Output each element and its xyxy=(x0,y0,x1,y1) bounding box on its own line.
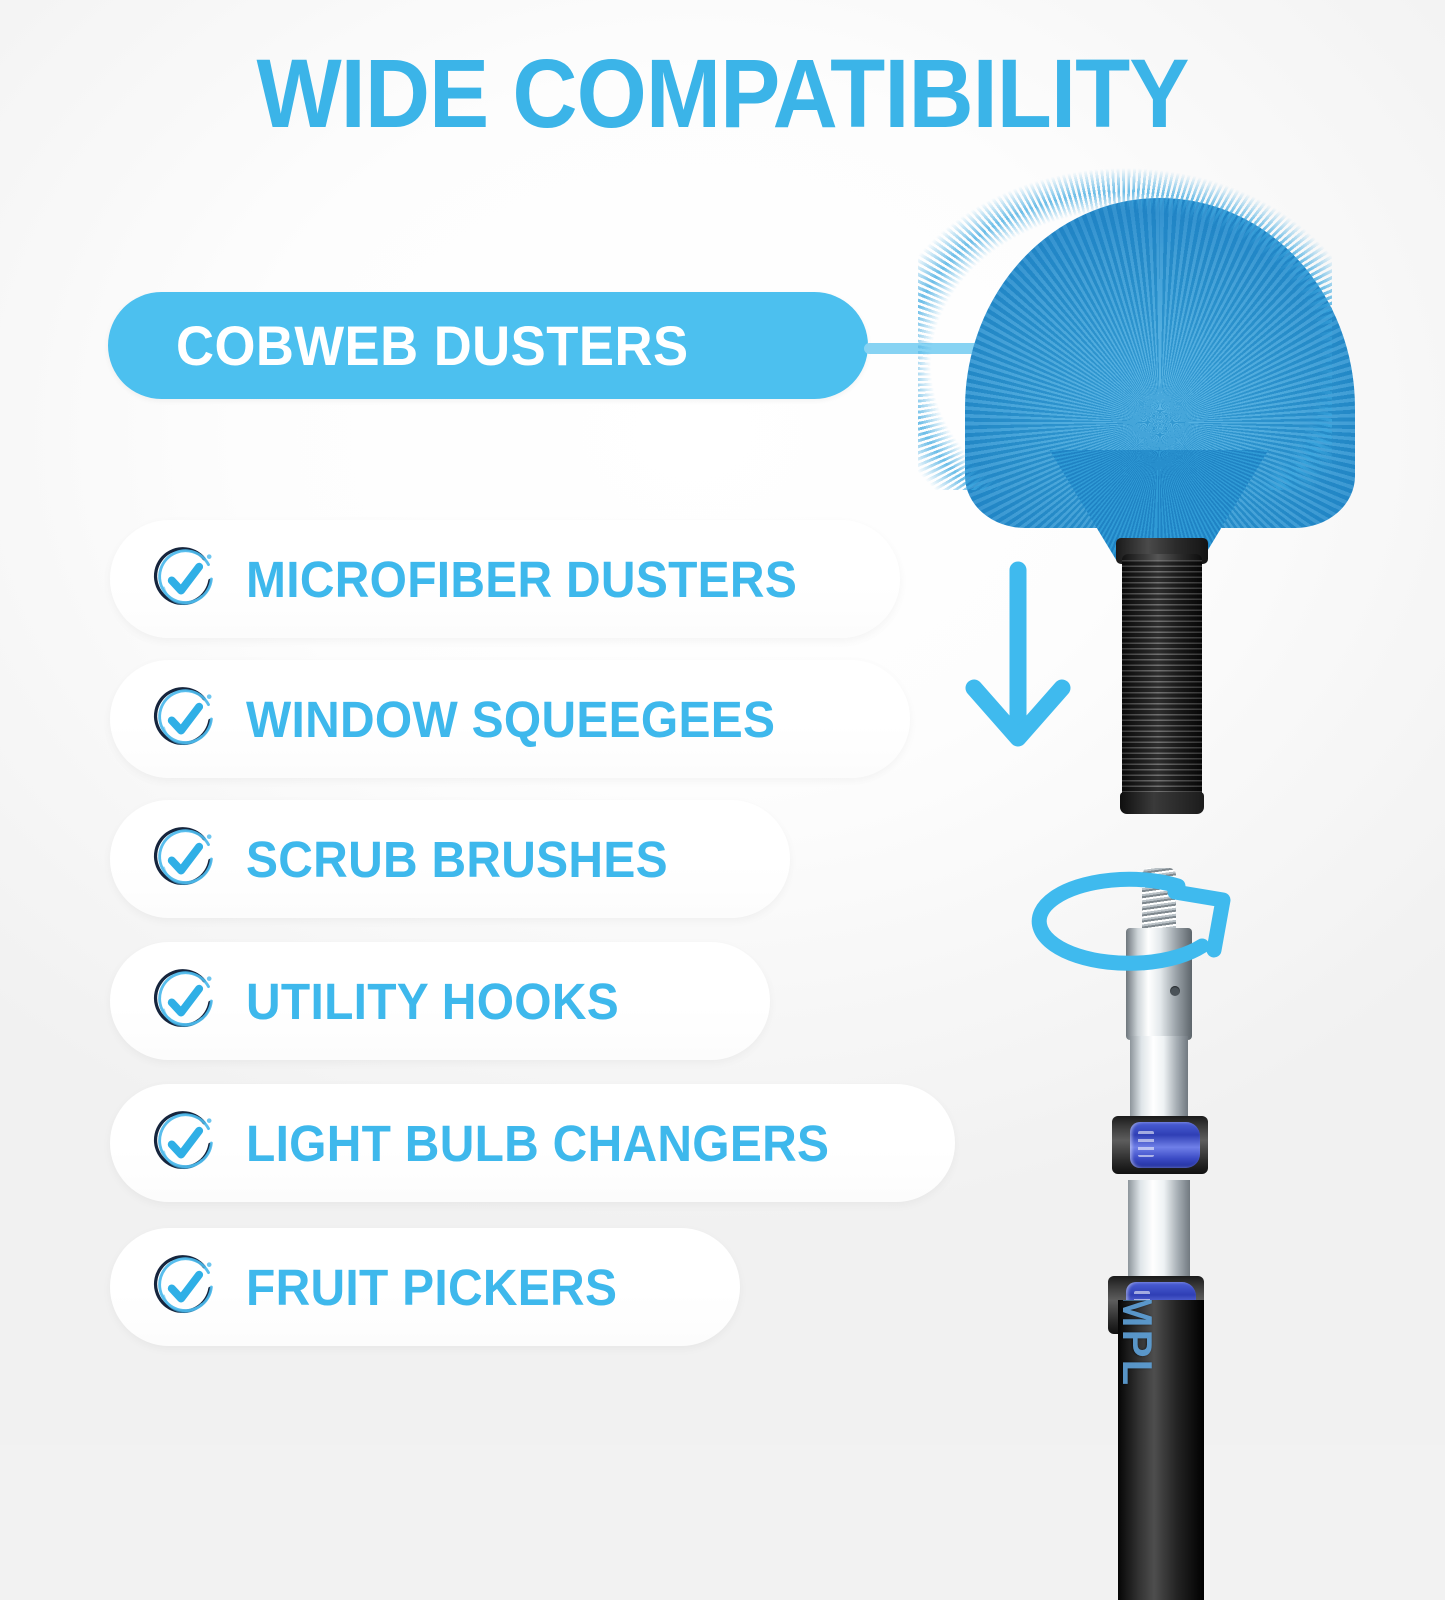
telescoping-pole-section-mid xyxy=(1128,1180,1190,1290)
check-swoosh-icon xyxy=(148,965,220,1037)
check-swoosh-icon xyxy=(148,683,220,755)
check-swoosh-icon xyxy=(148,543,220,615)
telescoping-pole-section-lower: SIMPL xyxy=(1118,1300,1204,1600)
feature-item-label: FRUIT PICKERS xyxy=(246,1258,617,1317)
feature-item-microfiber-dusters[interactable]: MICROFIBER DUSTERS xyxy=(110,520,900,638)
check-swoosh-icon xyxy=(148,1107,220,1179)
infographic-canvas: WIDE COMPATIBILITY COBWEB DUSTERS MICROF… xyxy=(0,0,1445,1445)
check-swoosh-icon xyxy=(148,1251,220,1323)
down-arrow-icon xyxy=(958,558,1078,768)
feature-item-label: MICROFIBER DUSTERS xyxy=(246,550,797,609)
grip-end-cap xyxy=(1120,792,1204,814)
feature-item-window-squeegees[interactable]: WINDOW SQUEEGEES xyxy=(110,660,910,778)
page-title: WIDE COMPATIBILITY xyxy=(51,42,1395,147)
feature-item-scrub-brushes[interactable]: SCRUB BRUSHES xyxy=(110,800,790,918)
feature-item-light-bulb-changers[interactable]: LIGHT BULB CHANGERS xyxy=(110,1084,955,1202)
feature-item-label: SCRUB BRUSHES xyxy=(246,830,668,889)
ribbed-black-grip xyxy=(1122,554,1202,804)
highlight-pill-cobweb-dusters[interactable]: COBWEB DUSTERS xyxy=(108,292,868,399)
telescoping-pole-section-upper xyxy=(1130,1036,1188,1128)
check-swoosh-icon xyxy=(148,823,220,895)
brand-label: SIMPL xyxy=(1118,1300,1161,1387)
feature-item-label: LIGHT BULB CHANGERS xyxy=(246,1114,829,1173)
feature-item-label: WINDOW SQUEEGEES xyxy=(246,690,775,749)
duster-bristle-edge xyxy=(918,140,1332,490)
feature-item-label: UTILITY HOOKS xyxy=(246,972,619,1031)
product-image: SIMPL xyxy=(930,150,1400,1445)
rotate-arrow-icon xyxy=(970,850,1260,1030)
feature-item-fruit-pickers[interactable]: FRUIT PICKERS xyxy=(110,1228,740,1346)
cam-lock-lever[interactable] xyxy=(1130,1122,1200,1168)
highlight-pill-label: COBWEB DUSTERS xyxy=(176,313,689,378)
feature-item-utility-hooks[interactable]: UTILITY HOOKS xyxy=(110,942,770,1060)
cam-lock-clamp[interactable] xyxy=(1112,1116,1208,1174)
